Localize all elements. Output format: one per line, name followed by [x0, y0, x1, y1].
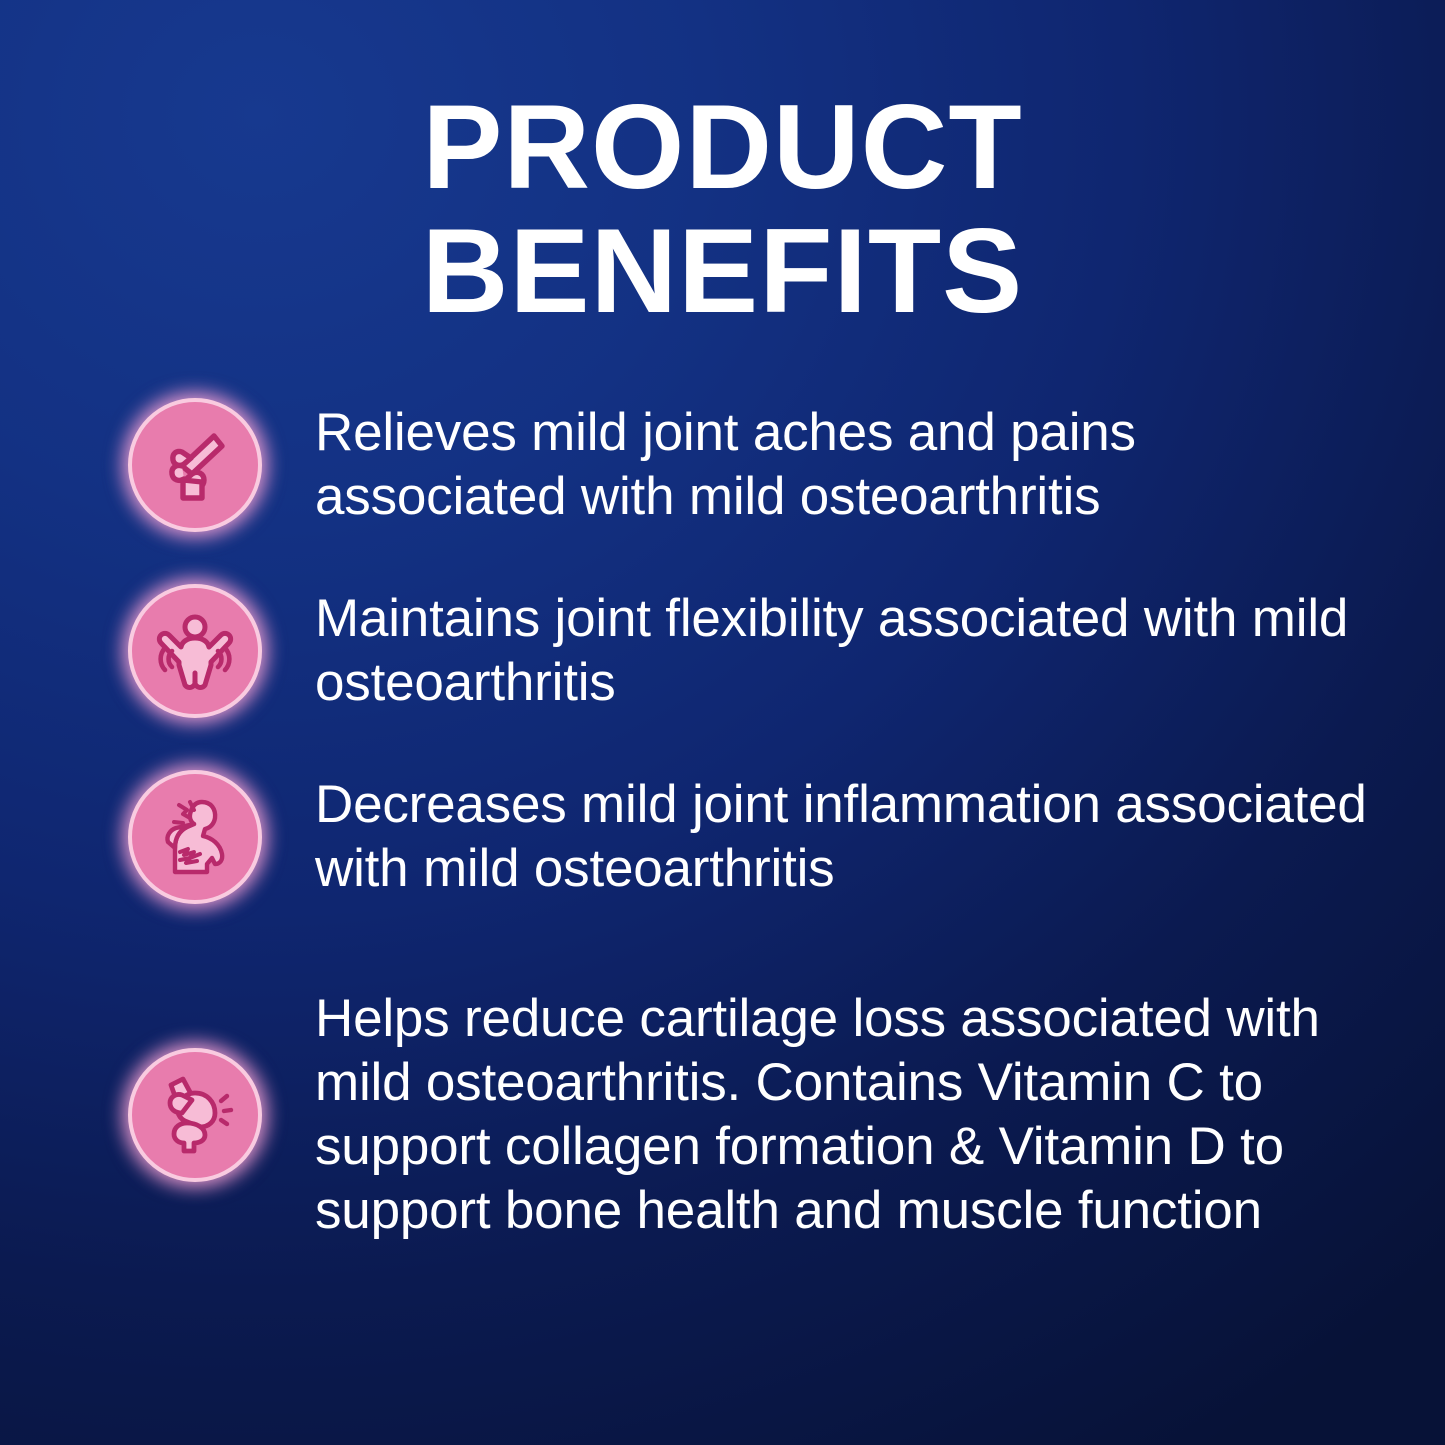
benefit-text-1: Relieves mild joint aches and pains asso… — [315, 401, 1400, 529]
badge-circle — [128, 770, 262, 904]
person-stretching-flexibility-icon — [151, 607, 239, 695]
benefit-icon-badge-2 — [120, 576, 270, 726]
body-pain-inflammation-icon — [150, 792, 240, 882]
benefit-item-1: Relieves mild joint aches and pains asso… — [0, 372, 1445, 558]
benefit-text-3: Decreases mild joint inflammation associ… — [315, 773, 1400, 901]
benefit-item-3: Decreases mild joint inflammation associ… — [0, 744, 1445, 930]
benefit-icon-badge-3 — [120, 762, 270, 912]
benefit-icon-badge-4 — [120, 1040, 270, 1190]
badge-circle — [128, 398, 262, 532]
product-benefits-poster: PRODUCT BENEFITS — [0, 0, 1445, 1445]
benefit-text-2: Maintains joint flexibility associated w… — [315, 587, 1400, 715]
benefit-text-4: Helps reduce cartilage loss associated w… — [315, 987, 1405, 1244]
badge-circle — [128, 584, 262, 718]
badge-circle — [128, 1048, 262, 1182]
benefit-item-4: Helps reduce cartilage loss associated w… — [0, 950, 1445, 1280]
benefit-icon-badge-1 — [120, 390, 270, 540]
page-title-line-2: BENEFITS — [0, 210, 1445, 334]
cartilage-joint-icon — [151, 1071, 239, 1159]
benefits-list: Relieves mild joint aches and pains asso… — [0, 372, 1445, 1280]
knee-joint-bone-icon — [152, 422, 238, 508]
page-title-line-1: PRODUCT — [0, 86, 1445, 210]
page-title: PRODUCT BENEFITS — [0, 86, 1445, 333]
benefit-item-2: Maintains joint flexibility associated w… — [0, 558, 1445, 744]
